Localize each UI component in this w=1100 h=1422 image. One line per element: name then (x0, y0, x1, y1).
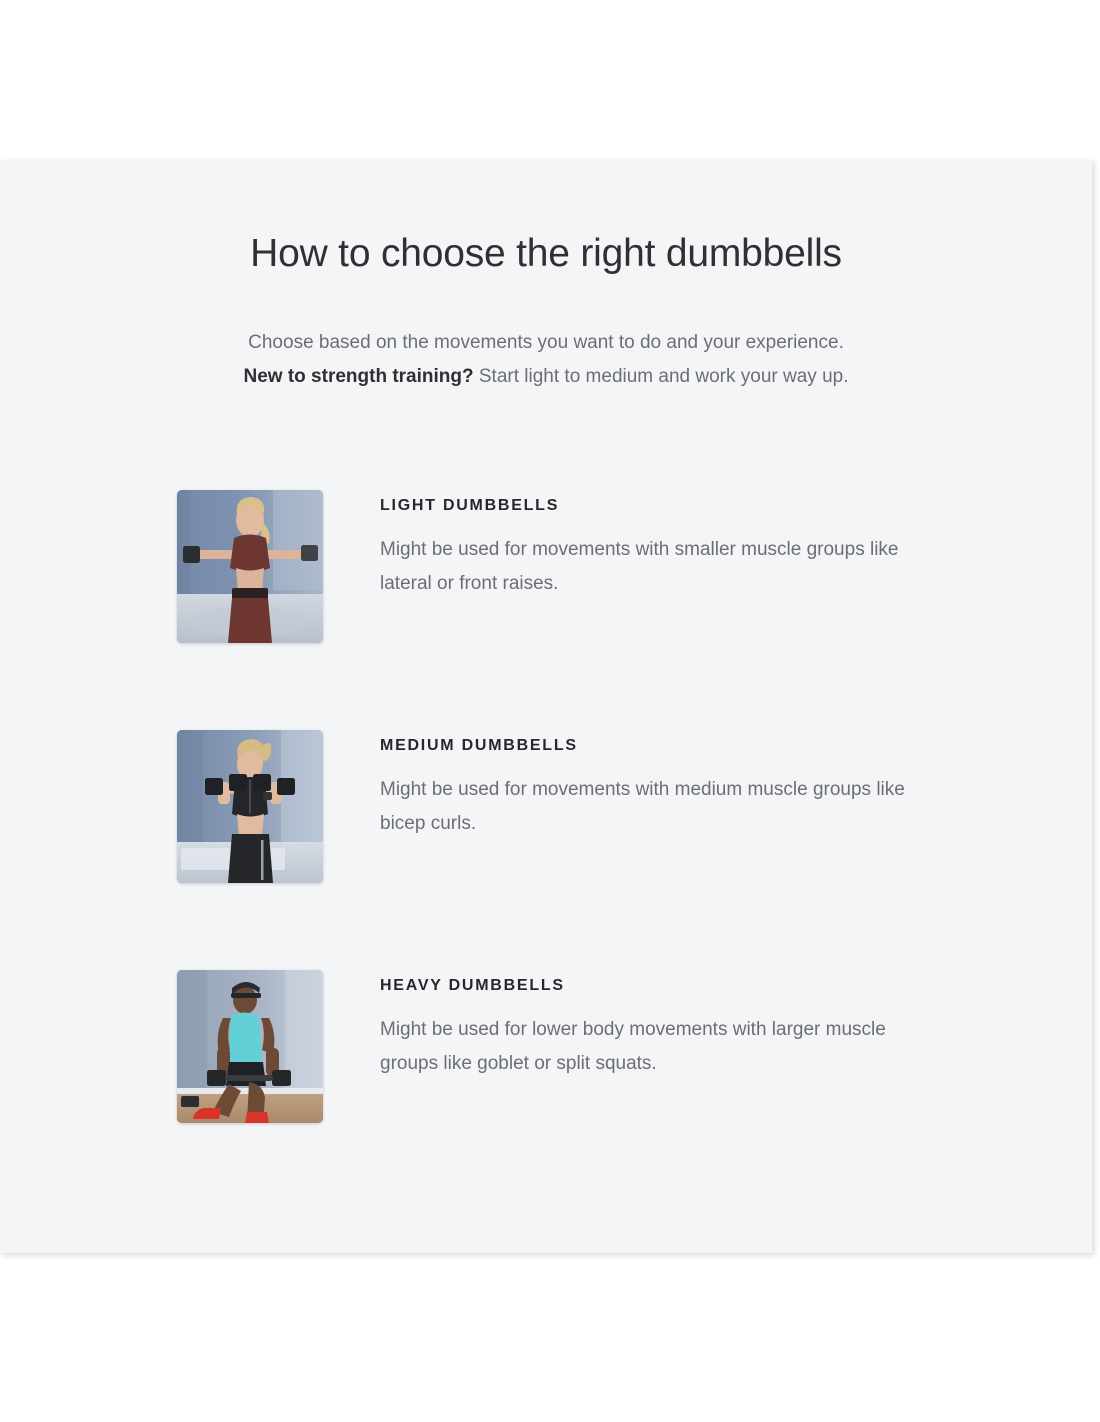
list-item: LIGHT DUMBBELLS Might be used for moveme… (177, 490, 1092, 730)
item-title: LIGHT DUMBBELLS (380, 496, 1092, 515)
item-text-block: LIGHT DUMBBELLS Might be used for moveme… (323, 490, 1092, 601)
section-header: How to choose the right dumbbells Choose… (0, 160, 1092, 394)
subtitle-answer: Start light to medium and work your way … (474, 366, 849, 387)
item-description: Might be used for lower body movements w… (380, 1013, 940, 1081)
page-root: How to choose the right dumbbells Choose… (0, 0, 1100, 1422)
list-item: HEAVY DUMBBELLS Might be used for lower … (177, 970, 1092, 1210)
subtitle-line-1: Choose based on the movements you want t… (0, 326, 1092, 360)
section-subtitle: Choose based on the movements you want t… (0, 326, 1092, 394)
list-item: MEDIUM DUMBBELLS Might be used for movem… (177, 730, 1092, 970)
page-title: How to choose the right dumbbells (0, 232, 1092, 276)
light-dumbbells-thumbnail[interactable] (177, 490, 323, 643)
item-title: HEAVY DUMBBELLS (380, 976, 1092, 995)
item-title: MEDIUM DUMBBELLS (380, 736, 1092, 755)
subtitle-line-2: New to strength training? Start light to… (0, 360, 1092, 394)
heavy-dumbbells-thumbnail[interactable] (177, 970, 323, 1123)
item-description: Might be used for movements with smaller… (380, 533, 940, 601)
content-panel: How to choose the right dumbbells Choose… (0, 160, 1092, 1253)
medium-dumbbells-thumbnail[interactable] (177, 730, 323, 883)
dumbbell-guide-list: LIGHT DUMBBELLS Might be used for moveme… (0, 490, 1092, 1210)
item-text-block: HEAVY DUMBBELLS Might be used for lower … (323, 970, 1092, 1081)
item-text-block: MEDIUM DUMBBELLS Might be used for movem… (323, 730, 1092, 841)
subtitle-question: New to strength training? (244, 366, 474, 387)
item-description: Might be used for movements with medium … (380, 773, 940, 841)
